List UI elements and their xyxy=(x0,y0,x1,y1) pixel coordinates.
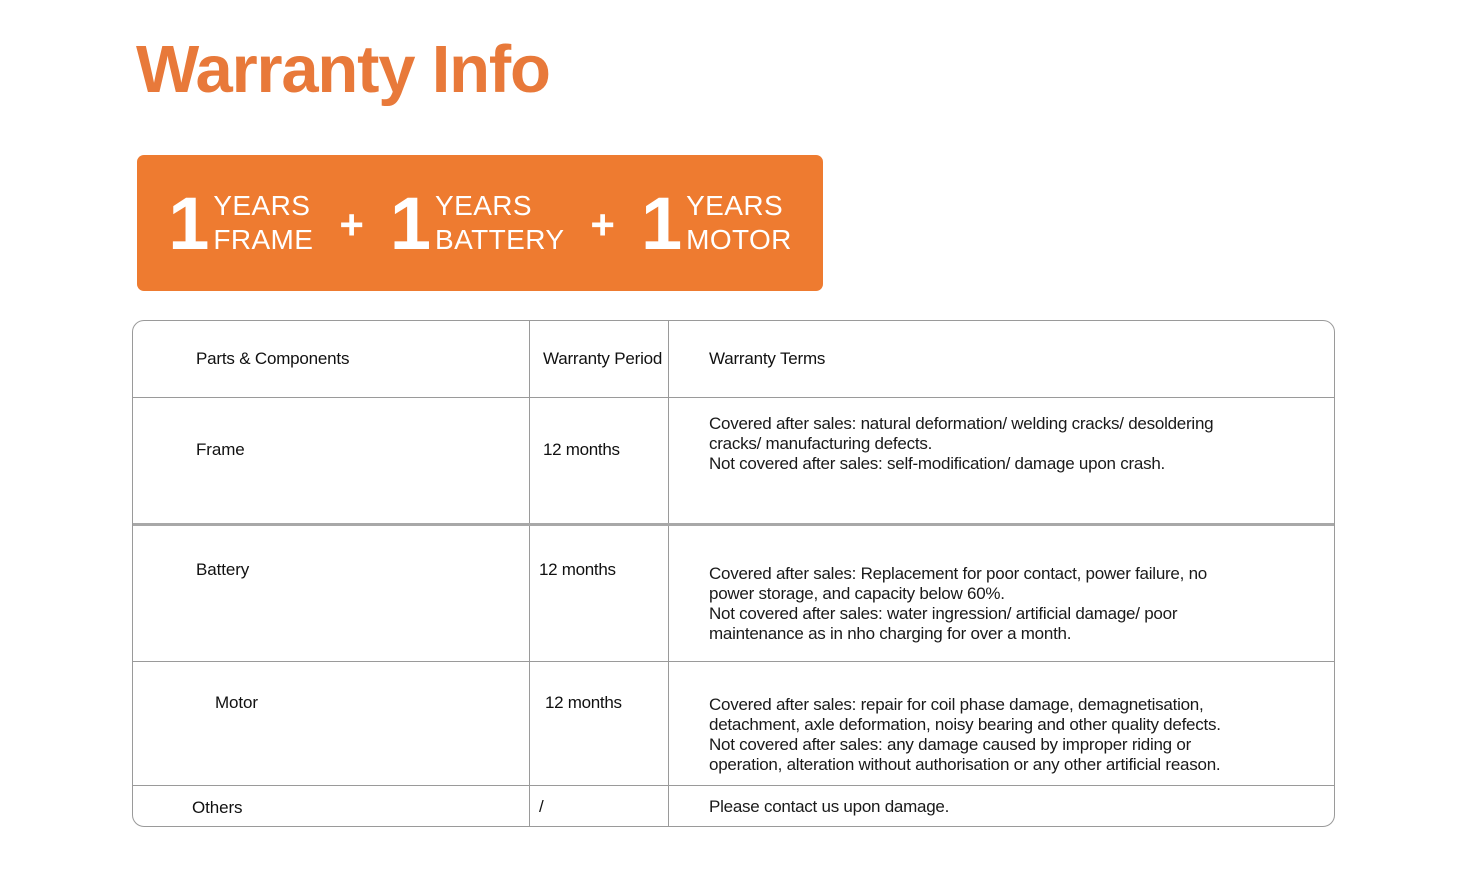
warranty-period-battery: 12 months xyxy=(539,560,616,580)
banner-part-battery: BATTERY xyxy=(435,223,564,257)
part-name-motor: Motor xyxy=(215,693,258,713)
warranty-terms-others: Please contact us upon damage. xyxy=(709,797,949,817)
column-header-parts: Parts & Components xyxy=(133,349,349,369)
table-row-frame: Frame 12 months Covered after sales: nat… xyxy=(133,397,1334,523)
warranty-summary-banner: 1 YEARS FRAME + 1 YEARS BATTERY + 1 YEAR… xyxy=(137,155,823,291)
banner-item-motor: 1 YEARS MOTOR xyxy=(641,189,792,257)
banner-item-battery: 1 YEARS BATTERY xyxy=(390,189,565,257)
table-header-cell-terms: Warranty Terms xyxy=(668,321,1334,397)
table-row-battery: Battery 12 months Covered after sales: R… xyxy=(133,523,1334,661)
table-header-row: Parts & Components Warranty Period Warra… xyxy=(133,321,1334,397)
table-header-cell-period: Warranty Period xyxy=(529,321,668,397)
banner-item-frame: 1 YEARS FRAME xyxy=(168,189,313,257)
plus-icon-1: + xyxy=(313,201,390,249)
warranty-table: Parts & Components Warranty Period Warra… xyxy=(132,320,1335,827)
cell-terms-battery: Covered after sales: Replacement for poo… xyxy=(668,526,1334,661)
banner-words-frame: YEARS FRAME xyxy=(213,189,313,257)
warranty-period-others: / xyxy=(539,797,543,817)
warranty-info-page: Warranty Info 1 YEARS FRAME + 1 YEARS BA… xyxy=(0,0,1464,874)
banner-years-number-battery: 1 xyxy=(390,191,435,256)
column-header-terms: Warranty Terms xyxy=(669,349,825,369)
cell-terms-motor: Covered after sales: repair for coil pha… xyxy=(668,662,1334,785)
banner-words-battery: YEARS BATTERY xyxy=(435,189,564,257)
cell-terms-frame: Covered after sales: natural deformation… xyxy=(668,398,1334,523)
part-name-battery: Battery xyxy=(196,560,249,580)
banner-part-motor: MOTOR xyxy=(686,223,792,257)
banner-unit-frame: YEARS xyxy=(213,189,313,223)
banner-unit-motor: YEARS xyxy=(686,189,792,223)
table-header-cell-parts: Parts & Components xyxy=(133,321,529,397)
banner-years-number-motor: 1 xyxy=(641,191,686,256)
cell-period-battery: 12 months xyxy=(529,526,668,661)
banner-unit-battery: YEARS xyxy=(435,189,564,223)
cell-part-frame: Frame xyxy=(133,398,529,523)
cell-period-frame: 12 months xyxy=(529,398,668,523)
warranty-period-motor: 12 months xyxy=(545,693,622,713)
table-row-others: Others / Please contact us upon damage. xyxy=(133,785,1334,826)
banner-part-frame: FRAME xyxy=(213,223,313,257)
cell-terms-others: Please contact us upon damage. xyxy=(668,786,1334,826)
cell-part-others: Others xyxy=(133,786,529,826)
page-title: Warranty Info xyxy=(136,36,550,103)
part-name-others: Others xyxy=(192,798,242,818)
cell-period-others: / xyxy=(529,786,668,826)
warranty-terms-frame: Covered after sales: natural deformation… xyxy=(709,414,1213,474)
plus-icon-2: + xyxy=(564,201,641,249)
cell-period-motor: 12 months xyxy=(529,662,668,785)
warranty-terms-motor: Covered after sales: repair for coil pha… xyxy=(709,695,1221,775)
cell-part-battery: Battery xyxy=(133,526,529,661)
warranty-terms-battery: Covered after sales: Replacement for poo… xyxy=(709,564,1207,644)
column-header-period: Warranty Period xyxy=(530,349,662,369)
table-row-motor: Motor 12 months Covered after sales: rep… xyxy=(133,661,1334,785)
part-name-frame: Frame xyxy=(196,440,245,460)
cell-part-motor: Motor xyxy=(133,662,529,785)
warranty-period-frame: 12 months xyxy=(543,440,620,460)
banner-words-motor: YEARS MOTOR xyxy=(686,189,792,257)
banner-years-number-frame: 1 xyxy=(168,191,213,256)
